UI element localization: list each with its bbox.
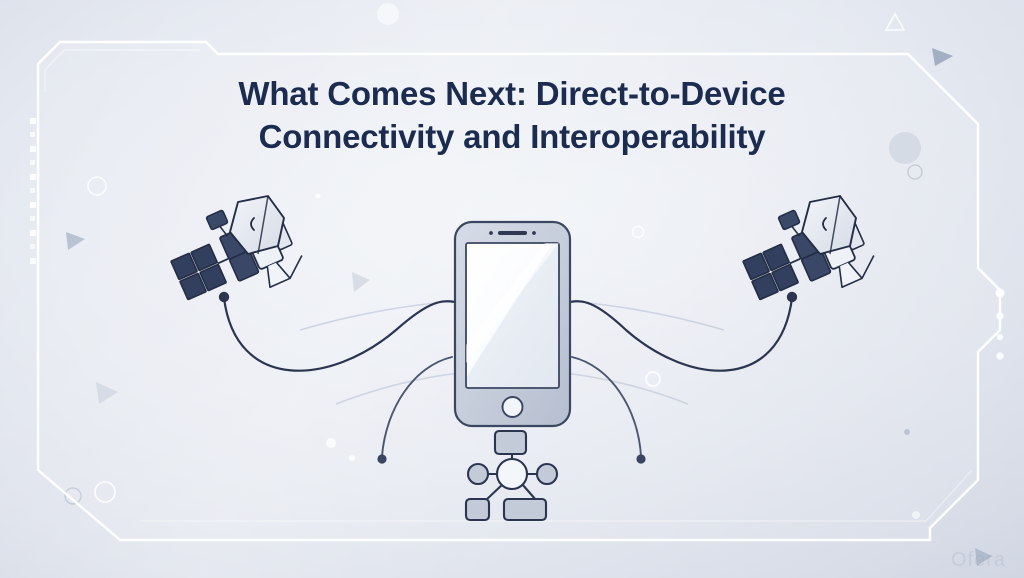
device-home-button xyxy=(503,397,523,417)
device-screen xyxy=(466,243,559,388)
link-device-to-ground-left xyxy=(377,357,452,464)
link-device-to-ground-right xyxy=(572,357,646,464)
watermark: Ofera xyxy=(951,549,1006,572)
node-right xyxy=(537,464,557,484)
ground-endpoint-dot-left xyxy=(377,454,386,463)
network-edge-bottom-right xyxy=(522,484,536,500)
node-bottom-left xyxy=(466,499,489,520)
link-satellite-right-to-device xyxy=(570,292,797,371)
device-sensor-icon xyxy=(532,231,536,235)
device-camera-icon xyxy=(489,231,493,235)
smartphone xyxy=(455,222,570,426)
satellite-right xyxy=(742,196,880,303)
device-speaker-icon xyxy=(498,231,527,235)
node-top xyxy=(495,431,526,454)
slide-canvas: What Comes Next: Direct-to-Device Connec… xyxy=(0,0,1024,578)
interoperability-network xyxy=(466,431,557,520)
satellite-left xyxy=(170,196,308,303)
link-endpoint-dot-right xyxy=(787,292,797,302)
network-edge-bottom-left xyxy=(486,484,503,500)
node-bottom-right xyxy=(504,499,546,520)
network-hub xyxy=(497,459,527,489)
link-satellite-left-to-device xyxy=(219,292,455,371)
node-left xyxy=(468,464,488,484)
ground-endpoint-dot-right xyxy=(636,454,645,463)
illustration-layer xyxy=(0,0,1024,578)
link-endpoint-dot-left xyxy=(219,292,229,302)
